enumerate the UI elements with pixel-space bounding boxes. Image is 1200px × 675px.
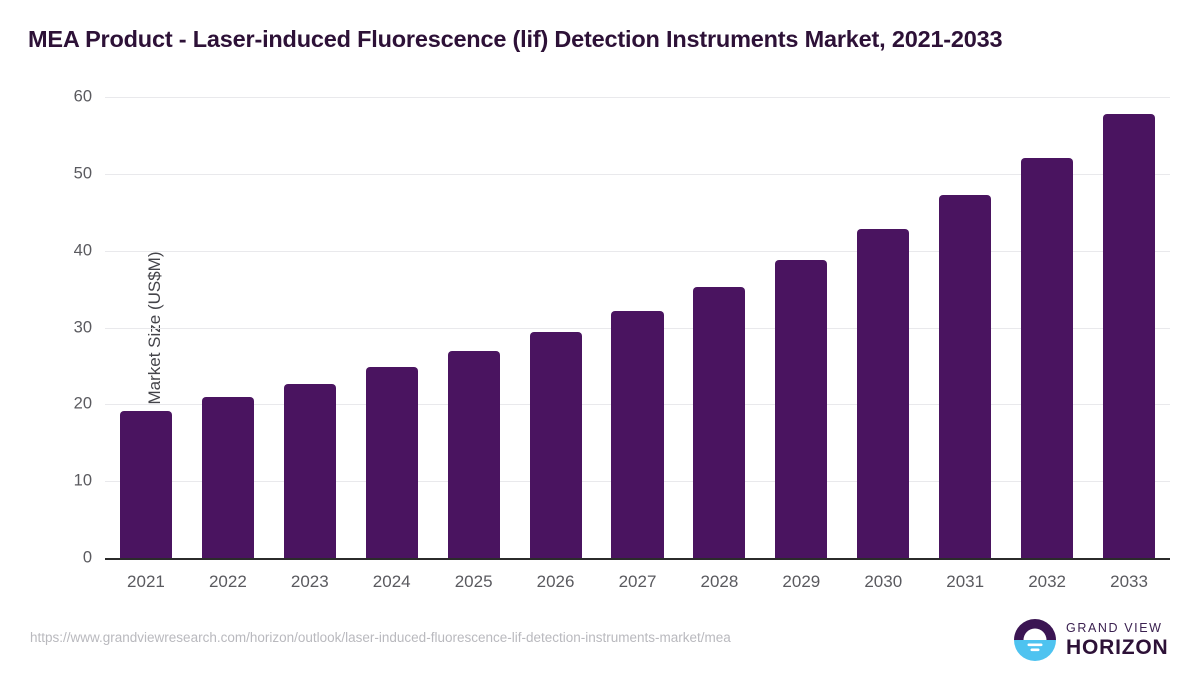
bar-2029[interactable] [775,260,827,558]
source-url[interactable]: https://www.grandviewresearch.com/horizo… [30,630,731,645]
x-axis-tick-label: 2031 [946,572,984,592]
x-axis-tick-label: 2027 [619,572,657,592]
x-axis-tick-label: 2022 [209,572,247,592]
bar-2027[interactable] [611,311,663,558]
brand-logo-line2: HORIZON [1066,637,1168,658]
bar-2031[interactable] [939,195,991,558]
x-axis-tick-label: 2023 [291,572,329,592]
bar-2021[interactable] [120,411,172,558]
bar-2024[interactable] [366,367,418,558]
bar-2026[interactable] [530,332,582,558]
bar-2022[interactable] [202,397,254,558]
bar-2025[interactable] [448,351,500,558]
chart-canvas: Market Size (US$M) 0102030405060 2021202… [0,0,1200,675]
x-axis-line [105,558,1170,560]
plot-area [105,97,1170,558]
brand-logo-text: GRAND VIEW HORIZON [1066,622,1168,659]
x-axis-tick-label: 2021 [127,572,165,592]
bar-2032[interactable] [1021,158,1073,558]
y-axis-tick-label: 0 [22,549,92,568]
x-axis-tick-label: 2026 [537,572,575,592]
x-axis-tick-label: 2029 [782,572,820,592]
bar-2023[interactable] [284,384,336,558]
y-axis-tick-label: 30 [22,318,92,337]
horizon-sun-icon [1013,618,1057,662]
x-axis-tick-label: 2033 [1110,572,1148,592]
y-axis-tick-label: 60 [22,88,92,107]
y-axis-tick-label: 20 [22,395,92,414]
y-axis-tick-label: 50 [22,164,92,183]
x-axis-tick-label: 2025 [455,572,493,592]
brand-logo: GRAND VIEW HORIZON [1013,615,1171,665]
y-axis-tick-label: 40 [22,241,92,260]
x-axis-tick-label: 2030 [864,572,902,592]
bar-2030[interactable] [857,229,909,558]
x-axis-tick-label: 2032 [1028,572,1066,592]
y-axis-tick-label: 10 [22,472,92,491]
x-axis-tick-label: 2028 [701,572,739,592]
brand-logo-line1: GRAND VIEW [1066,622,1168,635]
bar-2033[interactable] [1103,114,1155,558]
chart-page: MEA Product - Laser-induced Fluorescence… [0,0,1200,675]
bar-2028[interactable] [693,287,745,558]
x-axis-tick-label: 2024 [373,572,411,592]
